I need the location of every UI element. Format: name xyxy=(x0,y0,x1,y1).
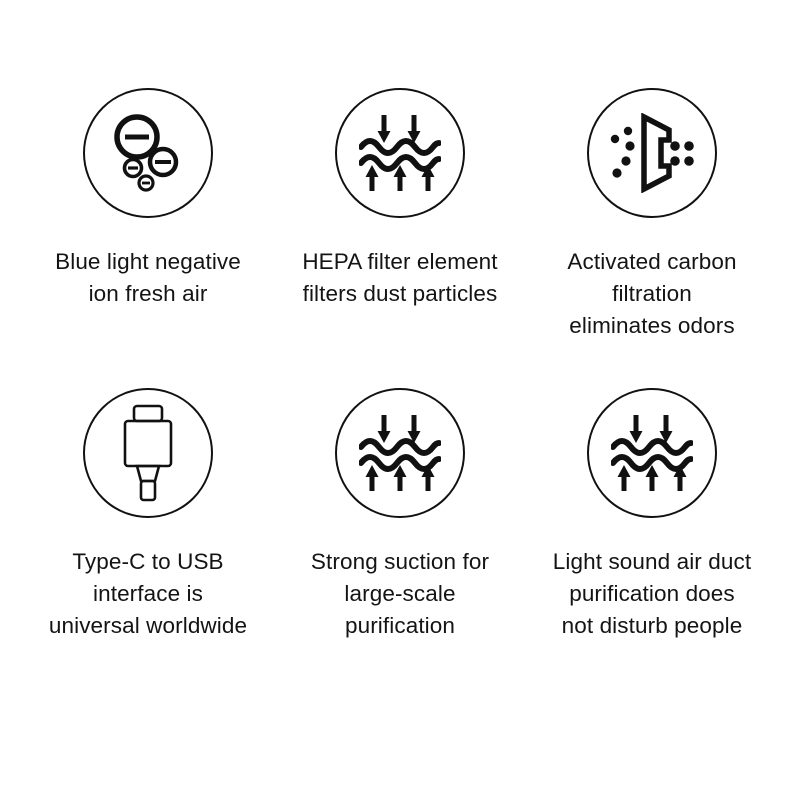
feature-caption: Activated carbon filtration eliminates o… xyxy=(567,246,736,342)
feature-caption: HEPA filter element filters dust particl… xyxy=(302,246,497,310)
feature-cell-light-sound: Light sound air duct purification does n… xyxy=(526,388,778,688)
feature-cell-strong-suction: Strong suction for large-scale purificat… xyxy=(274,388,526,688)
feature-caption: Blue light negative ion fresh air xyxy=(55,246,241,310)
icon-circle-light-sound xyxy=(587,388,717,518)
feature-cell-activated-carbon: Activated carbon filtration eliminates o… xyxy=(526,88,778,388)
icon-circle-type-c-usb xyxy=(83,388,213,518)
airflow-waves-icon xyxy=(359,113,441,193)
airflow-waves-icon xyxy=(611,413,693,493)
usb-c-connector-icon xyxy=(116,403,180,503)
feature-cell-type-c-usb: Type-C to USB interface is universal wor… xyxy=(22,388,274,688)
icon-circle-negative-ion xyxy=(83,88,213,218)
feature-caption: Type-C to USB interface is universal wor… xyxy=(49,546,247,642)
icon-circle-activated-carbon xyxy=(587,88,717,218)
feature-caption: Strong suction for large-scale purificat… xyxy=(311,546,489,642)
carbon-filter-dots-icon xyxy=(609,113,695,193)
feature-cell-hepa-filter: HEPA filter element filters dust particl… xyxy=(274,88,526,388)
feature-caption: Light sound air duct purification does n… xyxy=(553,546,751,642)
negative-ion-icon xyxy=(105,110,191,196)
airflow-waves-icon xyxy=(359,413,441,493)
feature-grid: Blue light negative ion fresh air xyxy=(0,0,800,800)
feature-cell-negative-ion: Blue light negative ion fresh air xyxy=(22,88,274,388)
icon-circle-hepa-filter xyxy=(335,88,465,218)
icon-circle-strong-suction xyxy=(335,388,465,518)
